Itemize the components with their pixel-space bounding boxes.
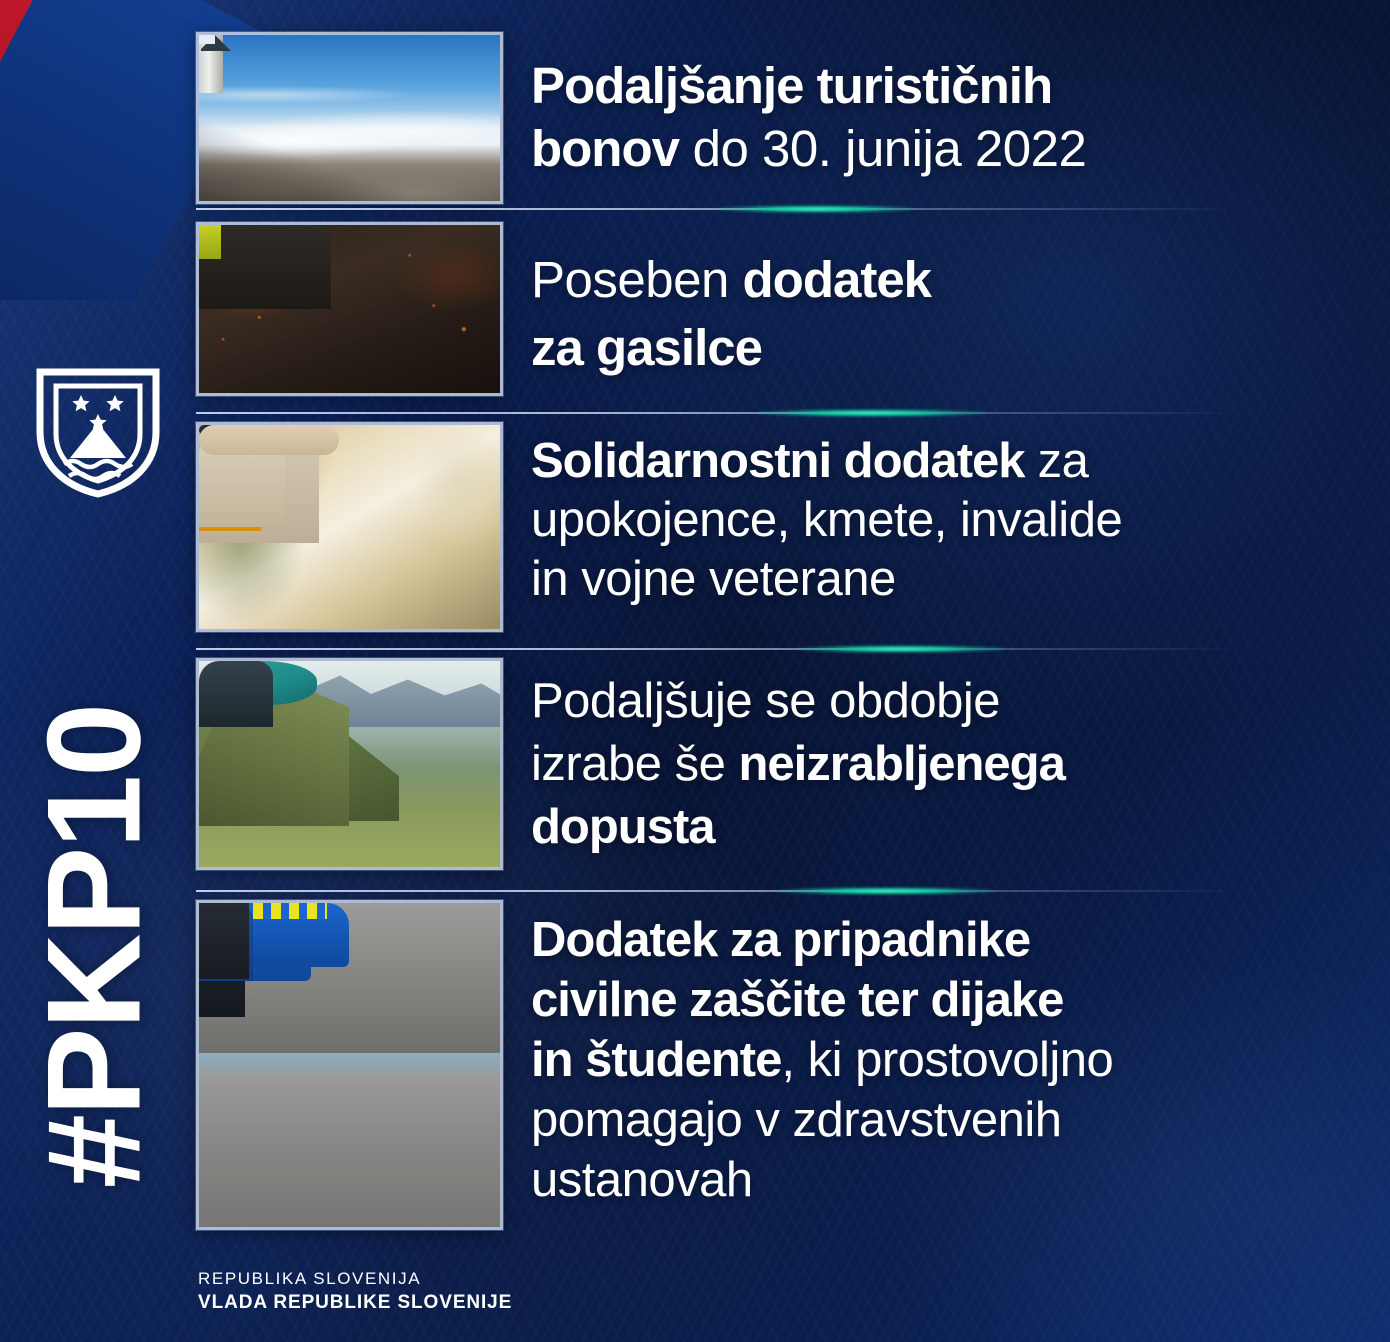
footer-line-1: REPUBLIKA SLOVENIJA	[198, 1269, 512, 1289]
item-text-unused-leave: Podaljšuje se obdobjeizrabe še neizrablj…	[531, 670, 1271, 859]
item-image-mountain-lake	[196, 658, 503, 870]
item-text-civil-protection: Dodatek za pripadnikecivilne zaščite ter…	[531, 910, 1291, 1210]
item-image-civil-protection	[196, 900, 503, 1230]
row-separator	[196, 208, 1236, 211]
item-text-solidarity-bonus: Solidarnostni dodatek zaupokojence, kmet…	[531, 432, 1291, 609]
footer-line-2: VLADA REPUBLIKE SLOVENIJE	[198, 1292, 512, 1314]
government-attribution: REPUBLIKA SLOVENIJA VLADA REPUBLIKE SLOV…	[198, 1269, 512, 1314]
item-image-tourism-vouchers	[196, 32, 503, 204]
item-text-tourism-vouchers: Podaljšanje turističnihbonov do 30. juni…	[531, 54, 1221, 180]
infographic-poster: #PKP10 Podaljšanje turističnihbonov do 3…	[0, 0, 1390, 1342]
row-separator	[196, 412, 1236, 415]
item-image-firefighter	[196, 222, 503, 396]
row-separator	[196, 648, 1236, 651]
item-image-elderly-couple	[196, 422, 503, 632]
row-separator	[196, 890, 1236, 893]
items-list: Podaljšanje turističnihbonov do 30. juni…	[0, 0, 1390, 1342]
item-text-firefighter: Poseben dodatekza gasilce	[531, 246, 1221, 382]
